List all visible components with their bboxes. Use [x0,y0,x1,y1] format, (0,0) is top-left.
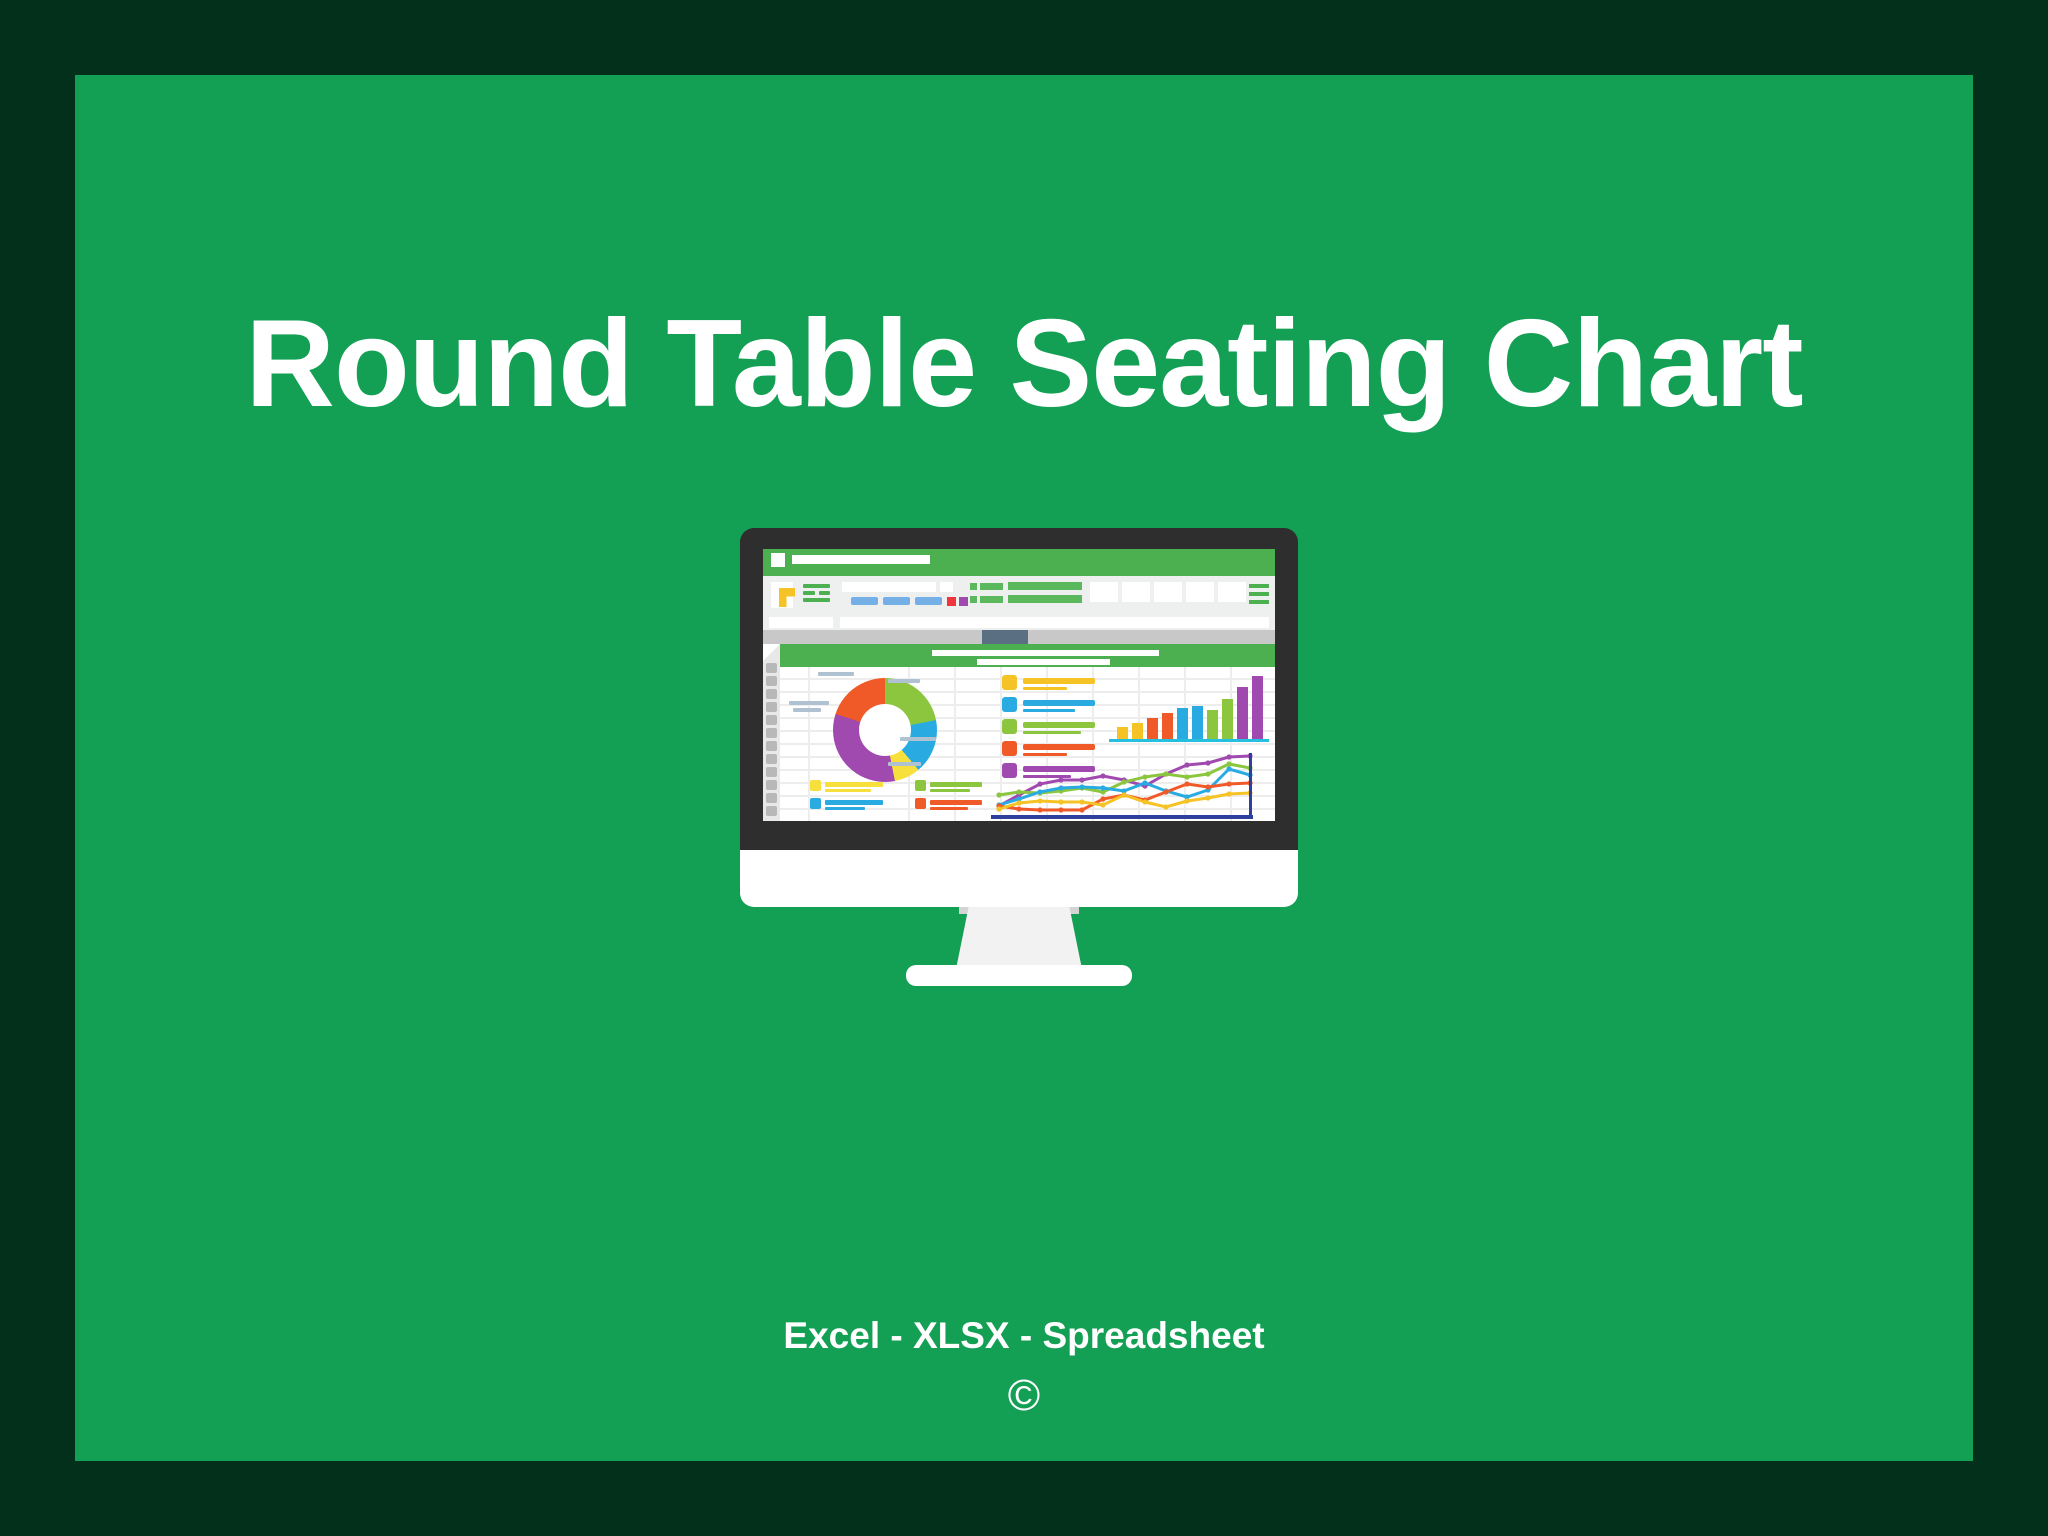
legend-swatch [915,798,926,809]
monitor-illustration [740,528,1298,850]
legend-bar [1023,687,1067,690]
column-header-e[interactable] [1028,630,1075,644]
bar [1192,706,1203,739]
bar [1177,708,1188,739]
bar [1222,699,1233,739]
banner-line-2 [977,659,1110,665]
bar [1162,713,1173,739]
row-header-cell[interactable] [766,689,777,699]
align-button-2[interactable] [883,597,910,605]
legend-swatch [810,780,821,791]
monitor-base [906,965,1132,986]
style-field-1[interactable] [842,582,936,592]
column-header-b[interactable] [808,630,937,644]
column-header-corner[interactable] [763,630,781,644]
formula-input[interactable] [840,617,1269,628]
ribbon-button-4[interactable] [1186,582,1214,602]
titlebar-filename-placeholder [792,555,930,564]
ribbon-button-1[interactable] [1090,582,1118,602]
row-header-cell[interactable] [766,663,777,673]
column-header-i[interactable] [1212,630,1275,644]
column-header-g[interactable] [1120,630,1167,644]
legend-swatch [1002,675,1017,690]
name-box[interactable] [769,617,833,628]
legend-bar [930,782,982,787]
legend-bar [930,789,970,792]
legend-bar [825,800,883,805]
legend-bar [825,807,865,810]
donut-label [789,701,829,705]
legend-swatch [915,780,926,791]
legend-swatch [810,798,821,809]
legend-swatch [1002,697,1017,712]
donut-label [888,679,920,683]
row-header-cell[interactable] [766,754,777,764]
row-header-cell[interactable] [766,780,777,790]
ribbon-button-2[interactable] [1122,582,1150,602]
row-header-cell[interactable] [766,728,777,738]
paste-glyph [779,588,795,607]
legend-bar [1023,700,1095,706]
bar [1252,676,1263,739]
row-header-cell[interactable] [766,741,777,751]
page-title: Round Table Seating Chart [75,299,1973,429]
line-chart [995,741,1257,817]
legend-bar [1023,709,1075,712]
monitor-stand [956,907,1082,969]
bar [1117,727,1128,739]
donut-label [793,708,821,712]
color-swatch-purple[interactable] [959,597,968,606]
legend-bar [825,789,871,792]
bar [1207,710,1218,739]
footer: Excel - XLSX - Spreadsheet © [75,1310,1973,1424]
spreadsheet-titlebar [763,549,1275,576]
align-button-1[interactable] [851,597,878,605]
bar-chart [1117,675,1267,739]
row-header-cell[interactable] [766,793,777,803]
row-header-cell[interactable] [766,676,777,686]
banner-line-1 [932,650,1159,656]
donut-label [900,737,936,741]
line-chart-y-axis [1249,753,1252,819]
row-header-cell[interactable] [766,767,777,777]
copyright-icon: © [75,1368,1973,1424]
donut-chart-hole [833,678,937,782]
column-header-row [763,630,1275,644]
column-header-a[interactable] [780,630,809,644]
align-button-3[interactable] [915,597,942,605]
row-header-cell[interactable] [766,715,777,725]
monitor-screen [763,549,1275,821]
color-swatch-red[interactable] [947,597,956,606]
footer-format-label: Excel - XLSX - Spreadsheet [75,1310,1973,1362]
poster-inner-panel: Round Table Seating Chart [75,75,1973,1461]
bar [1132,723,1143,739]
poster-canvas: Round Table Seating Chart [0,0,2048,1536]
column-header-f[interactable] [1074,630,1121,644]
line-chart-x-axis [991,815,1253,819]
style-field-2[interactable] [940,582,953,592]
ribbon-button-3[interactable] [1154,582,1182,602]
donut-label [818,672,854,676]
legend-bar [1023,731,1081,734]
ribbon-button-5[interactable] [1218,582,1246,602]
row-header-cell[interactable] [766,702,777,712]
row-header-cell[interactable] [766,806,777,816]
bar [1147,718,1158,739]
sheet-grid[interactable] [780,667,1275,821]
column-header-h[interactable] [1166,630,1213,644]
app-logo-icon [771,553,785,567]
legend-bar [1023,678,1095,684]
column-header-c[interactable] [936,630,983,644]
bar [1237,687,1248,739]
sheet-title-banner [780,644,1275,667]
paste-icon[interactable] [771,582,793,608]
sheet-corner-cell[interactable] [763,644,780,661]
legend-bar [930,807,968,810]
legend-bar [930,800,982,805]
column-header-d-selected[interactable] [982,630,1029,644]
legend-bar [1023,722,1095,728]
spreadsheet-ribbon [763,576,1275,616]
legend-bar [825,782,883,787]
monitor-chin [740,850,1298,907]
legend-swatch [1002,719,1017,734]
donut-label [888,762,921,766]
row-header-strip [763,661,780,821]
